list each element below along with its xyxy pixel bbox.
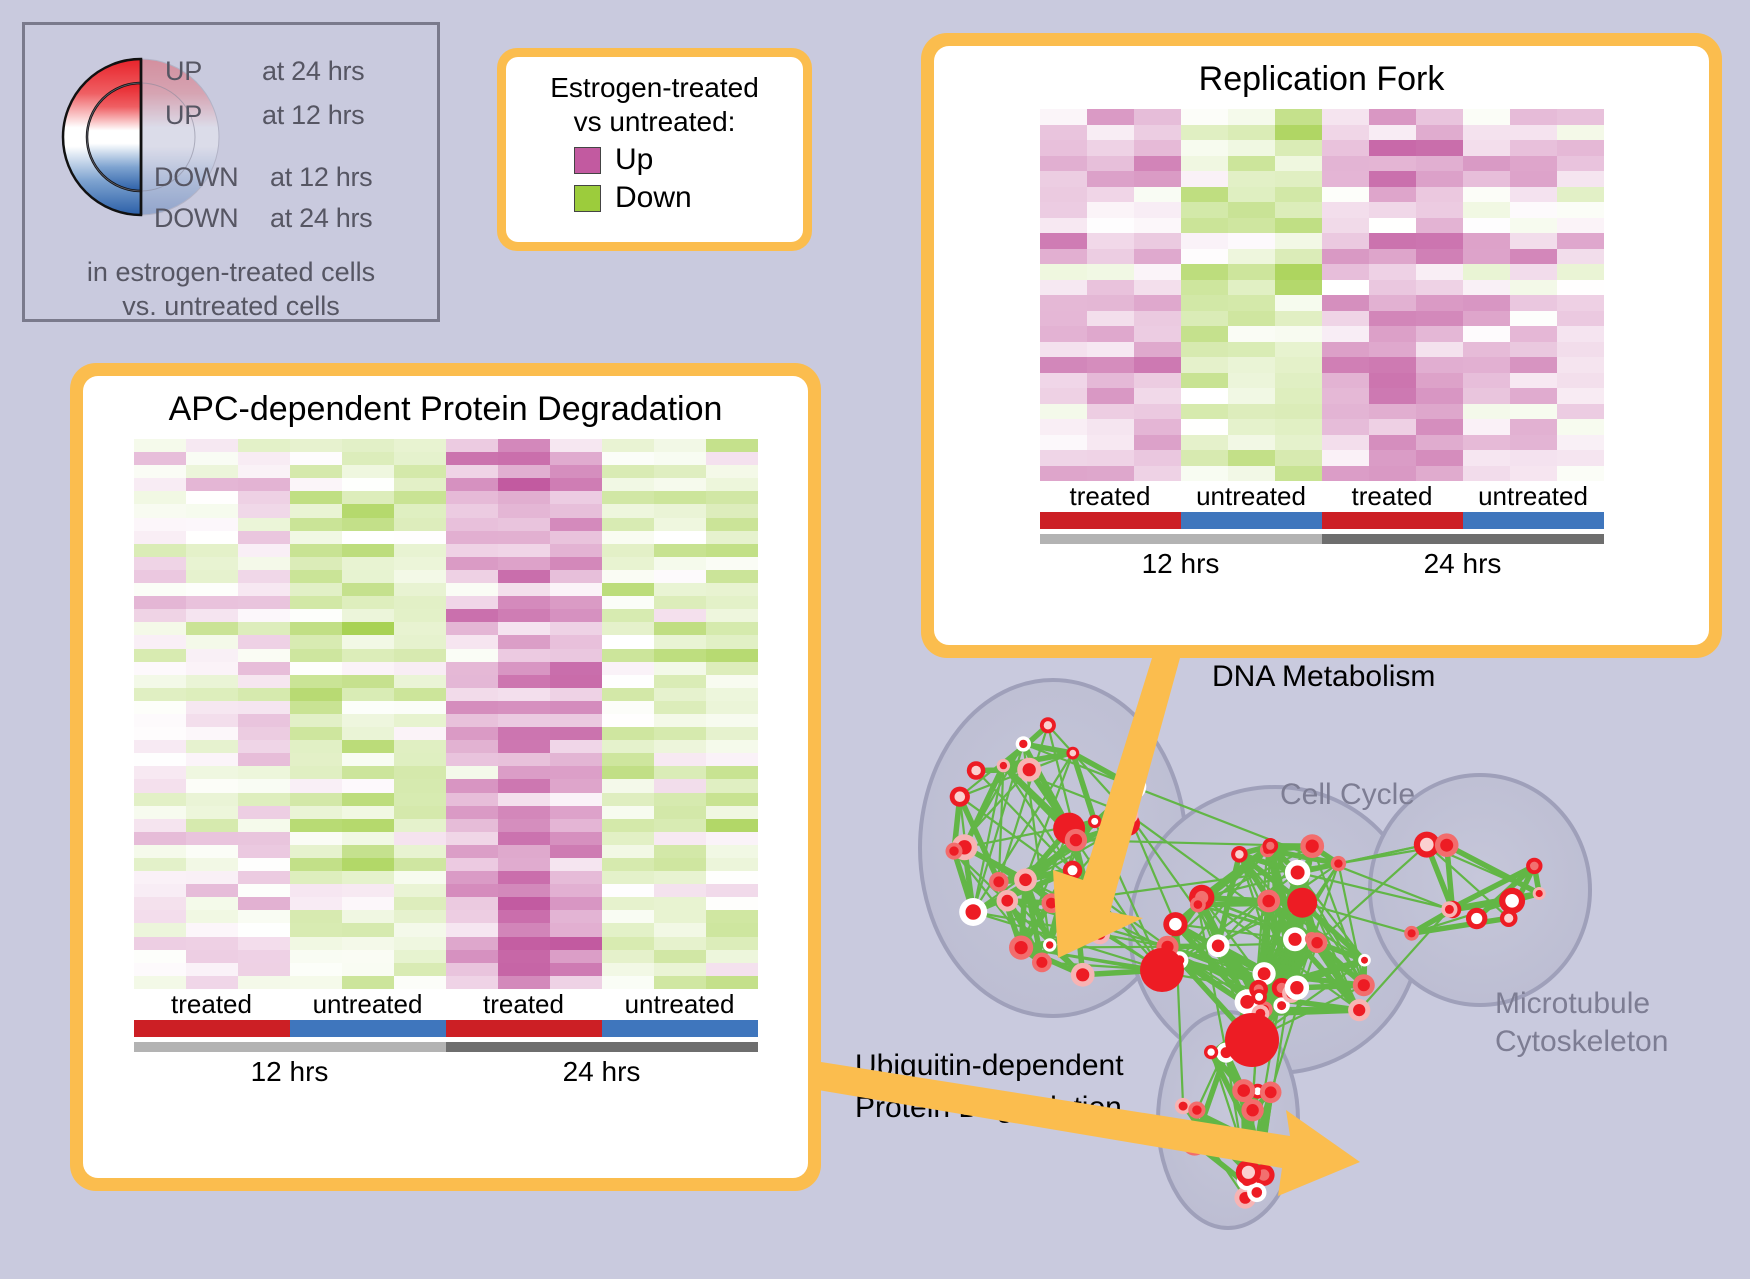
heatmap-cell (706, 649, 758, 662)
heatmap-cell (290, 635, 342, 648)
heatmap-cell (1134, 435, 1181, 451)
heatmap-cell (1087, 218, 1134, 234)
heatmap-cell (654, 963, 706, 976)
cluster-label-ubiquitin: Ubiquitin-dependentProtein Degradation (855, 1045, 1124, 1129)
heatmap-cell (186, 858, 238, 871)
heatmap-cell (342, 806, 394, 819)
heatmap-cell (186, 950, 238, 963)
heatmap-cell (134, 779, 186, 792)
heatmap-cell (1181, 466, 1228, 482)
heatmap-cell (1322, 233, 1369, 249)
legend-row-down: Down (574, 181, 793, 215)
heatmap-cell (134, 609, 186, 622)
heatmap-cell (1275, 342, 1322, 358)
heatmap-cell (1463, 435, 1510, 451)
heatmap-cell (1322, 264, 1369, 280)
heatmap-cell (1510, 435, 1557, 451)
heatmap-cell (290, 714, 342, 727)
expression-direction-legend: UP at 24 hrs UP at 12 hrs DOWN at 12 hrs… (22, 22, 440, 322)
heatmap-cell (1228, 342, 1275, 358)
heatmap-cell (550, 858, 602, 871)
heatmap-cell (290, 858, 342, 871)
heatmap-cell (1040, 109, 1087, 125)
heatmap-cell (550, 583, 602, 596)
heatmap-cell (498, 557, 550, 570)
heatmap-cell (1181, 202, 1228, 218)
up-color-swatch (574, 147, 601, 174)
heatmap-cell (1416, 218, 1463, 234)
heatmap-cell (342, 504, 394, 517)
heatmap-cell (498, 884, 550, 897)
heatmap-cell (1322, 202, 1369, 218)
heatmap-cell (654, 779, 706, 792)
heatmap-cell (654, 675, 706, 688)
heatmap-cell (134, 701, 186, 714)
heatmap-cell (550, 465, 602, 478)
heatmap-cell (342, 531, 394, 544)
heatmap-cell (342, 923, 394, 936)
heatmap-cell (602, 544, 654, 557)
heatmap-cell (1557, 125, 1604, 141)
heatmap-cell (602, 884, 654, 897)
heatmap-cell (706, 845, 758, 858)
heatmap-cell (134, 688, 186, 701)
heatmap-cell (290, 976, 342, 989)
heatmap-cell (186, 465, 238, 478)
heatmap-cell (290, 963, 342, 976)
heatmap-cell (602, 609, 654, 622)
heatmap-cell (1087, 357, 1134, 373)
heatmap-cell (186, 675, 238, 688)
heatmap-cell (498, 544, 550, 557)
heatmap-cell (1463, 466, 1510, 482)
heatmap-cell (1557, 388, 1604, 404)
heatmap-cell (550, 845, 602, 858)
heatmap-cell (1181, 218, 1228, 234)
heatmap-cell (1463, 187, 1510, 203)
heatmap-cell (1322, 388, 1369, 404)
panel-replication-fork: Replication Fork treateduntreatedtreated… (921, 33, 1722, 658)
heatmap-cell (1463, 280, 1510, 296)
heatmap-cell (134, 845, 186, 858)
heatmap-cell (290, 518, 342, 531)
heatmap-cell (394, 465, 446, 478)
heatmap-cell (1228, 187, 1275, 203)
heatmap-cell (706, 740, 758, 753)
heatmap-cell (1275, 388, 1322, 404)
heatmap-cell (706, 518, 758, 531)
heatmap-cell (394, 518, 446, 531)
heatmap-cell (1463, 373, 1510, 389)
heatmap-cell (498, 740, 550, 753)
heatmap-cell (654, 570, 706, 583)
heatmap-replication-fork (1040, 109, 1604, 481)
heatmap-cell (342, 478, 394, 491)
heatmap-cell (1557, 264, 1604, 280)
heatmap-cell (1228, 419, 1275, 435)
heatmap-cell (1040, 450, 1087, 466)
heatmap-cell (446, 544, 498, 557)
heatmap-cell (654, 740, 706, 753)
heatmap-cell (342, 439, 394, 452)
heatmap-cell (290, 478, 342, 491)
heatmap-cell (1228, 373, 1275, 389)
heatmap-cell (1275, 295, 1322, 311)
heatmap-cell (1228, 388, 1275, 404)
heatmap-cell (1040, 233, 1087, 249)
heatmap-cell (1416, 388, 1463, 404)
heatmap-cell (1416, 125, 1463, 141)
heatmap-cell (290, 897, 342, 910)
heatmap-cell (654, 688, 706, 701)
heatmap-cell (550, 478, 602, 491)
heatmap-cell (1181, 342, 1228, 358)
heatmap-cell (602, 701, 654, 714)
heatmap-cell (1510, 311, 1557, 327)
heatmap-cell (1369, 466, 1416, 482)
heatmap-cell (1134, 388, 1181, 404)
heatmap-cell (1134, 218, 1181, 234)
heatmap-cell (498, 583, 550, 596)
heatmap-cell (654, 557, 706, 570)
heatmap-cell (1228, 280, 1275, 296)
heatmap-cell (706, 583, 758, 596)
heatmap-cell (186, 714, 238, 727)
heatmap-cell (550, 491, 602, 504)
group-color-bar (1040, 512, 1604, 529)
heatmap-cell (654, 858, 706, 871)
heatmap-cell (446, 806, 498, 819)
heatmap-cell (1275, 450, 1322, 466)
group-bar-untreated-1 (290, 1020, 446, 1037)
heatmap-cell (1416, 202, 1463, 218)
heatmap-cell (1463, 295, 1510, 311)
heatmap-cell (446, 740, 498, 753)
heatmap-cell (1369, 249, 1416, 265)
heatmap-cell (1181, 264, 1228, 280)
heatmap-cell (446, 766, 498, 779)
heatmap-cell (1228, 125, 1275, 141)
heatmap-cell (1369, 419, 1416, 435)
group-bar-untreated-3 (602, 1020, 758, 1037)
heatmap-cell (706, 793, 758, 806)
down-color-swatch (574, 185, 601, 212)
time-label-24-hrs: 24 hrs (446, 1052, 758, 1088)
cluster-label-cell-cycle: Cell Cycle (1280, 778, 1415, 812)
heatmap-cell (394, 727, 446, 740)
heatmap-cell (1087, 326, 1134, 342)
heatmap-cell (134, 793, 186, 806)
group-label-row: treateduntreatedtreateduntreated (134, 989, 758, 1020)
heatmap-cell (654, 491, 706, 504)
heatmap-cell (1369, 171, 1416, 187)
heatmap-cell (186, 819, 238, 832)
heatmap-cell (654, 531, 706, 544)
heatmap-cell (1087, 419, 1134, 435)
group-bar-untreated-3 (1463, 512, 1604, 529)
heatmap-cell (342, 583, 394, 596)
heatmap-cell (1040, 218, 1087, 234)
heatmap-cell (1228, 435, 1275, 451)
heatmap-cell (238, 491, 290, 504)
heatmap-cell (550, 779, 602, 792)
heatmap-cell (1181, 326, 1228, 342)
heatmap-cell (1275, 280, 1322, 296)
heatmap-cell (186, 570, 238, 583)
heatmap-cell (1228, 156, 1275, 172)
heatmap-cell (1557, 435, 1604, 451)
heatmap-cell (394, 753, 446, 766)
heatmap-cell (186, 649, 238, 662)
time-bar-0 (134, 1042, 446, 1052)
heatmap-cell (446, 504, 498, 517)
heatmap-cell (498, 897, 550, 910)
heatmap-cell (654, 583, 706, 596)
panel-title-replication-fork: Replication Fork (1199, 60, 1445, 99)
heatmap-cell (238, 740, 290, 753)
heatmap-cell (186, 596, 238, 609)
heatmap-cell (394, 649, 446, 662)
heatmap-cell (1275, 187, 1322, 203)
heatmap-cell (602, 504, 654, 517)
heatmap-cell (186, 609, 238, 622)
heatmap-cell (1181, 156, 1228, 172)
heatmap-cell (706, 622, 758, 635)
heatmap-cell (238, 766, 290, 779)
heatmap-cell (1322, 466, 1369, 482)
heatmap-cell (1322, 109, 1369, 125)
heatmap-cell (602, 779, 654, 792)
heatmap-cell (186, 753, 238, 766)
heatmap-cell (550, 897, 602, 910)
heatmap-cell (1557, 466, 1604, 482)
time-color-bar (134, 1042, 758, 1052)
heatmap-cell (1228, 249, 1275, 265)
group-label-treated-2: treated (446, 989, 602, 1020)
heatmap-cell (238, 622, 290, 635)
heatmap-cell (1416, 373, 1463, 389)
heatmap-cell (550, 963, 602, 976)
heatmap-cell (706, 635, 758, 648)
group-label-untreated-3: untreated (602, 989, 758, 1020)
heatmap-cell (706, 531, 758, 544)
heatmap-cell (342, 963, 394, 976)
heatmap-cell (394, 950, 446, 963)
heatmap-cell (342, 858, 394, 871)
heatmap-cell (446, 727, 498, 740)
heatmap-cell (1369, 450, 1416, 466)
heatmap-cell (498, 452, 550, 465)
time-bar-0 (1040, 534, 1322, 544)
heatmap-cell (186, 531, 238, 544)
heatmap-cell (1510, 404, 1557, 420)
heatmap-cell (654, 714, 706, 727)
heatmap-cell (394, 937, 446, 950)
heatmap-cell (498, 937, 550, 950)
heatmap-cell (342, 727, 394, 740)
heatmap-cell (706, 950, 758, 963)
heatmap-cell (186, 478, 238, 491)
heatmap-cell (1510, 233, 1557, 249)
heatmap-cell (186, 557, 238, 570)
heatmap-cell (290, 531, 342, 544)
up-label: Up (615, 143, 653, 177)
heatmap-cell (446, 439, 498, 452)
heatmap-cell (342, 819, 394, 832)
legend-time-down-24: at 24 hrs (270, 203, 372, 234)
heatmap-cell (290, 491, 342, 504)
heatmap-cell (186, 963, 238, 976)
heatmap-cell (550, 832, 602, 845)
heatmap-cell (1369, 125, 1416, 141)
heatmap-cell (238, 937, 290, 950)
heatmap-cell (498, 871, 550, 884)
heatmap-cell (1275, 404, 1322, 420)
heatmap-cell (654, 819, 706, 832)
heatmap-cell (1510, 419, 1557, 435)
heatmap-cell (394, 622, 446, 635)
heatmap-cell (1275, 140, 1322, 156)
group-label-untreated-3: untreated (1463, 481, 1604, 512)
heatmap-cell (498, 727, 550, 740)
heatmap-cell (134, 976, 186, 989)
heatmap-cell (1557, 419, 1604, 435)
heatmap-cell (446, 976, 498, 989)
heatmap-cell (1087, 171, 1134, 187)
heatmap-cell (394, 963, 446, 976)
heatmap-cell (446, 832, 498, 845)
heatmap-cell (550, 727, 602, 740)
heatmap-cell (1134, 450, 1181, 466)
heatmap-cell (602, 819, 654, 832)
heatmap-cell (1228, 311, 1275, 327)
heatmap-cell (1181, 450, 1228, 466)
heatmap-cell (1275, 218, 1322, 234)
heatmap-cell (1087, 342, 1134, 358)
heatmap-cell (1416, 295, 1463, 311)
heatmap-cell (238, 439, 290, 452)
heatmap-cell (1040, 311, 1087, 327)
heatmap-cell (1087, 187, 1134, 203)
heatmap-cell (654, 766, 706, 779)
heatmap-cell (654, 452, 706, 465)
heatmap-cell (394, 910, 446, 923)
heatmap-cell (446, 622, 498, 635)
heatmap-cell (186, 910, 238, 923)
heatmap-cell (602, 950, 654, 963)
heatmap-cell (238, 806, 290, 819)
heatmap-cell (1416, 357, 1463, 373)
heatmap-cell (290, 871, 342, 884)
heatmap-cell (1369, 388, 1416, 404)
heatmap-cell (186, 740, 238, 753)
heatmap-cell (498, 622, 550, 635)
heatmap-cell (394, 557, 446, 570)
heatmap-cell (342, 688, 394, 701)
heatmap-cell (654, 727, 706, 740)
heatmap-cell (602, 714, 654, 727)
heatmap-cell (1275, 373, 1322, 389)
heatmap-cell (654, 871, 706, 884)
heatmap-cell (446, 897, 498, 910)
heatmap-cell (238, 923, 290, 936)
heatmap-cell (290, 766, 342, 779)
heatmap-cell (1369, 218, 1416, 234)
heatmap-cell (1134, 264, 1181, 280)
heatmap-cell (550, 753, 602, 766)
heatmap-cell (1463, 218, 1510, 234)
heatmap-cell (498, 701, 550, 714)
heatmap-cell (134, 675, 186, 688)
heatmap-cell (654, 478, 706, 491)
heatmap-cell (1463, 404, 1510, 420)
heatmap-cell (602, 806, 654, 819)
heatmap-cell (1134, 404, 1181, 420)
heatmap-cell (446, 649, 498, 662)
heatmap-cell (1510, 249, 1557, 265)
heatmap-cell (1181, 357, 1228, 373)
heatmap-cell (290, 688, 342, 701)
heatmap-cell (498, 649, 550, 662)
heatmap-cell (446, 491, 498, 504)
heatmap-cell (1510, 218, 1557, 234)
heatmap-cell (1322, 249, 1369, 265)
heatmap-cell (1463, 388, 1510, 404)
heatmap-cell (1369, 187, 1416, 203)
heatmap-cell (186, 452, 238, 465)
heatmap-cell (134, 727, 186, 740)
heatmap-cell (706, 832, 758, 845)
heatmap-cell (1228, 404, 1275, 420)
heatmap-cell (706, 779, 758, 792)
heatmap-cell (134, 923, 186, 936)
heatmap-cell (1134, 373, 1181, 389)
heatmap-cell (602, 923, 654, 936)
heatmap-cell (706, 963, 758, 976)
heatmap-cell (1134, 249, 1181, 265)
heatmap-cell (290, 884, 342, 897)
heatmap-cell (446, 635, 498, 648)
heatmap-cell (654, 753, 706, 766)
heatmap-cell (1557, 342, 1604, 358)
heatmap-cell (1510, 156, 1557, 172)
heatmap-cell (134, 806, 186, 819)
heatmap-cell (654, 845, 706, 858)
heatmap-cell (290, 557, 342, 570)
heatmap-cell (134, 963, 186, 976)
heatmap-cell (498, 675, 550, 688)
heatmap-cell (706, 897, 758, 910)
heatmap-cell (238, 518, 290, 531)
legend-label-down-12: DOWN (154, 162, 238, 193)
heatmap-cell (1463, 326, 1510, 342)
heatmap-cell (550, 766, 602, 779)
heatmap-cell (238, 609, 290, 622)
heatmap-cell (706, 596, 758, 609)
heatmap-cell (238, 635, 290, 648)
heatmap-cell (1322, 140, 1369, 156)
heatmap-cell (446, 675, 498, 688)
heatmap-cell (706, 688, 758, 701)
heatmap-cell (238, 662, 290, 675)
heatmap-cell (1134, 295, 1181, 311)
heatmap-cell (186, 583, 238, 596)
heatmap-cell (446, 845, 498, 858)
heatmap-cell (1134, 140, 1181, 156)
up-down-color-legend: Estrogen-treated vs untreated: Up Down (497, 48, 812, 251)
heatmap-cell (290, 845, 342, 858)
heatmap-cell (290, 570, 342, 583)
